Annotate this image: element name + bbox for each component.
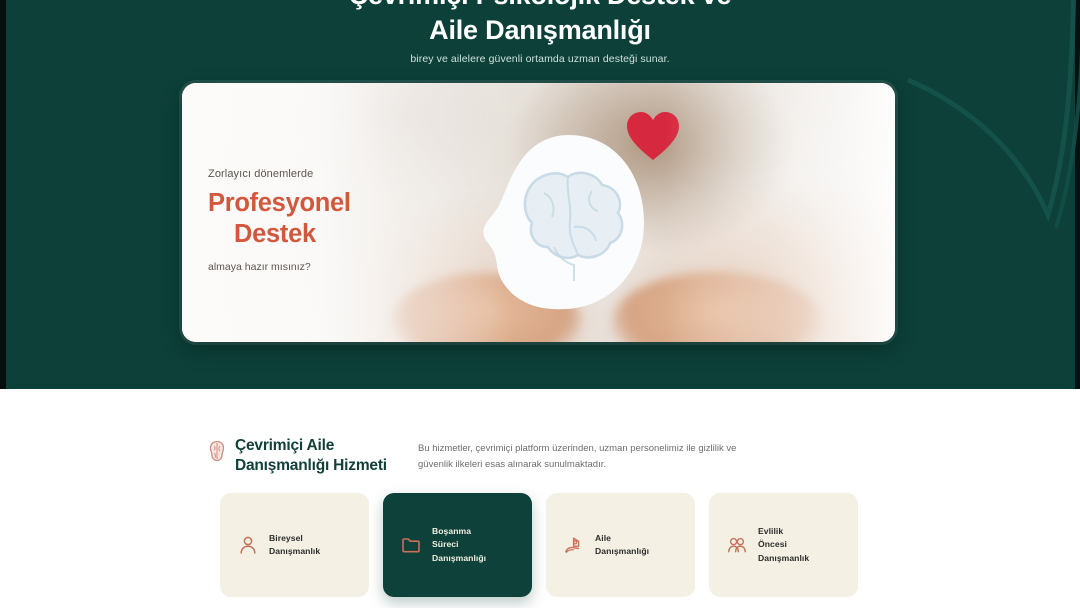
- service-card-label: Boşanma Süreci Danışmanlığı: [432, 525, 486, 565]
- service-card-aile[interactable]: Aile Danışmanlığı: [546, 493, 695, 597]
- service-card-evlilik-oncesi[interactable]: Evlilik Öncesi Danışmanlık: [709, 493, 858, 597]
- section-paragraph: Bu hizmetler, çevrimiçi platform üzerind…: [418, 441, 766, 474]
- service-card-label: Aile Danışmanlığı: [595, 532, 649, 559]
- folder-icon: [401, 535, 421, 555]
- hero-band: Çevrimiçi Psikolojik Destek ve Aile Danı…: [0, 0, 1080, 389]
- service-label-line-1: Bireysel: [269, 533, 303, 543]
- headline-line-1: Çevrimiçi Psikolojik Destek ve: [0, 0, 1080, 13]
- service-label-line-1: Boşanma: [432, 526, 471, 536]
- service-label-line-2: Süreci: [432, 539, 459, 549]
- section-title-line-1: Çevrimiçi Aile: [235, 437, 334, 454]
- service-label-line-3: Danışmanlık: [758, 553, 809, 563]
- service-label-line-2: Danışmanlığı: [595, 546, 649, 556]
- service-card-bosanma[interactable]: Boşanma Süreci Danışmanlığı: [383, 493, 532, 597]
- brain-icon: [208, 440, 226, 462]
- section-title: Çevrimiçi Aile Danışmanlığı Hizmeti: [235, 436, 387, 477]
- service-card-bireysel[interactable]: Bireysel Danışmanlık: [220, 493, 369, 597]
- services-section: Çevrimiçi Aile Danışmanlığı Hizmeti Bu h…: [0, 389, 1080, 608]
- couple-icon: [727, 535, 747, 555]
- hero-title-line-2: Destek: [208, 219, 438, 250]
- person-icon: [238, 535, 258, 555]
- service-label-line-2: Öncesi: [758, 539, 787, 549]
- service-label-line-1: Evlilik: [758, 526, 783, 536]
- landing-page: Çevrimiçi Psikolojik Destek ve Aile Danı…: [0, 0, 1080, 608]
- hero-image-card[interactable]: Zorlayıcı dönemlerde Profesyonel Destek …: [182, 83, 895, 342]
- photo-right-gradient: [665, 83, 895, 342]
- hero-title: Profesyonel Destek: [208, 188, 438, 249]
- page-subtitle: birey ve ailelere güvenli ortamda uzman …: [0, 53, 1080, 65]
- service-card-label: Evlilik Öncesi Danışmanlık: [758, 525, 809, 565]
- hero-title-line-1: Profesyonel: [208, 189, 351, 217]
- hand-heart-icon: [564, 535, 584, 555]
- page-title: Çevrimiçi Psikolojik Destek ve Aile Danı…: [0, 0, 1080, 47]
- headline-line-2: Aile Danışmanlığı: [0, 13, 1080, 48]
- service-label-line-1: Aile: [595, 533, 611, 543]
- service-label-line-2: Danışmanlık: [269, 546, 320, 556]
- hero-subtext: almaya hazır mısınız?: [208, 261, 438, 273]
- section-heading: Çevrimiçi Aile Danışmanlığı Hizmeti: [208, 436, 387, 477]
- service-card-label: Bireysel Danışmanlık: [269, 532, 320, 559]
- hero-text-block: Zorlayıcı dönemlerde Profesyonel Destek …: [208, 168, 438, 273]
- hero-kicker: Zorlayıcı dönemlerde: [208, 168, 438, 180]
- section-title-line-2: Danışmanlığı Hizmeti: [235, 457, 387, 474]
- service-card-list: Bireysel Danışmanlık Boşanma Süreci Danı…: [220, 493, 858, 597]
- service-label-line-3: Danışmanlığı: [432, 553, 486, 563]
